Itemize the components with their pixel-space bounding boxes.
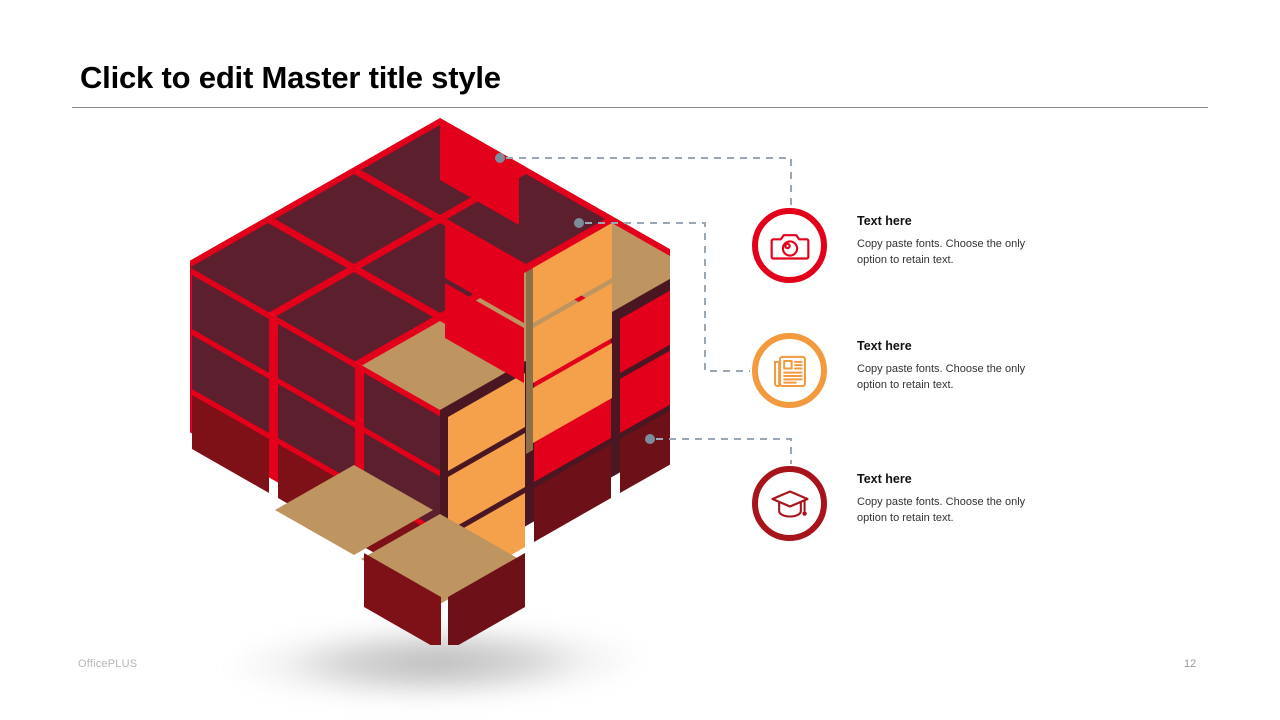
- info-text-1: Text here Copy paste fonts. Choose the o…: [857, 214, 1047, 268]
- info-body-3: Copy paste fonts. Choose the only option…: [857, 495, 1047, 526]
- icon-badge-1[interactable]: [752, 208, 827, 283]
- newspaper-icon: [770, 351, 810, 391]
- info-text-3: Text here Copy paste fonts. Choose the o…: [857, 472, 1047, 526]
- camera-icon: [770, 226, 810, 266]
- icon-badge-2[interactable]: [752, 333, 827, 408]
- info-heading-1: Text here: [857, 214, 1047, 228]
- info-body-1: Copy paste fonts. Choose the only option…: [857, 237, 1047, 268]
- icon-badge-3[interactable]: [752, 466, 827, 541]
- graduation-cap-icon: [770, 484, 810, 524]
- footer-brand: OfficePLUS: [78, 658, 137, 670]
- footer-page-number: 12: [1184, 658, 1196, 670]
- page-title[interactable]: Click to edit Master title style: [80, 60, 501, 96]
- info-text-2: Text here Copy paste fonts. Choose the o…: [857, 339, 1047, 393]
- info-heading-2: Text here: [857, 339, 1047, 353]
- info-body-2: Copy paste fonts. Choose the only option…: [857, 362, 1047, 393]
- info-heading-3: Text here: [857, 472, 1047, 486]
- slide-canvas: Click to edit Master title style .tp{fil…: [0, 0, 1280, 720]
- cube-graphic[interactable]: .tp{fill:#5C1F2E} .tpo{fill:#BE9460} .fr…: [190, 105, 670, 645]
- cube-illustration: .tp{fill:#5C1F2E} .tpo{fill:#BE9460} .fr…: [190, 105, 670, 645]
